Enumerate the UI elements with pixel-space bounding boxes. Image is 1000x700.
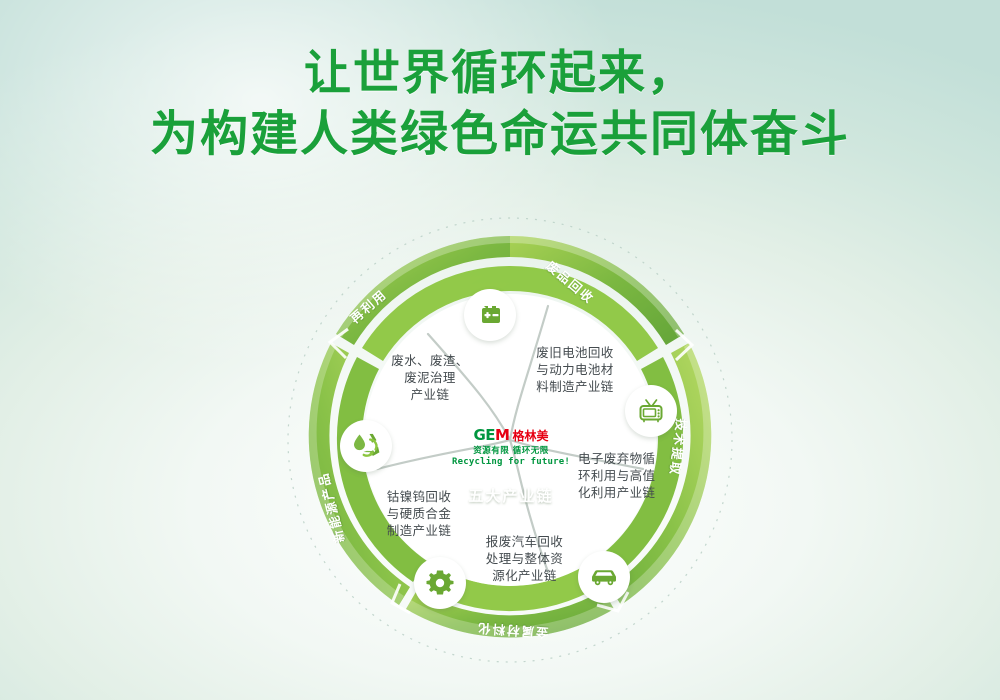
tv-icon <box>636 396 666 426</box>
icon-bubble-gear <box>414 557 466 609</box>
poster-canvas: 让世界循环起来， 为构建人类绿色命运共同体奋斗 <box>0 0 1000 700</box>
title-line-2: 为构建人类绿色命运共同体奋斗 <box>0 104 1000 164</box>
icon-bubble-recycle <box>340 420 392 472</box>
battery-icon <box>475 300 505 330</box>
car-icon <box>588 561 620 593</box>
page-title: 让世界循环起来， 为构建人类绿色命运共同体奋斗 <box>0 44 1000 164</box>
icon-bubble-battery <box>464 289 516 341</box>
icon-bubble-car <box>578 551 630 603</box>
icon-bubble-tv <box>625 385 677 437</box>
title-line-1: 让世界循环起来， <box>0 44 1000 104</box>
recycle-drop-icon <box>350 430 382 462</box>
gear-icon <box>425 568 455 598</box>
